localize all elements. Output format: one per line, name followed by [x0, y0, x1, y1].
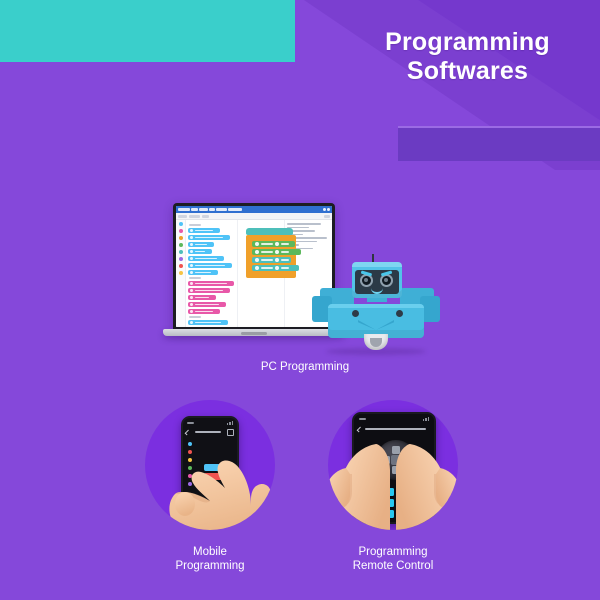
page-title: Programming Softwares	[345, 28, 590, 86]
mobile-caption-line-1: Mobile	[130, 545, 290, 559]
toolbar-button	[202, 215, 209, 218]
robot-right-port	[396, 310, 403, 317]
titlebar-menu-item	[209, 208, 215, 211]
block-label	[195, 290, 223, 292]
blue-programmable-robot	[312, 262, 440, 354]
block-label	[261, 251, 273, 253]
block-label	[195, 265, 225, 267]
remote-caption-line-1: Programming	[313, 545, 473, 559]
pc-programming-caption-text: PC Programming	[205, 360, 405, 374]
block-category-dot[interactable]	[179, 243, 183, 247]
status-signal-icon	[423, 417, 430, 421]
block-category-dot[interactable]	[179, 264, 183, 268]
laptop-screen	[176, 206, 332, 327]
remote-caption-line-2: Remote Control	[313, 559, 473, 573]
block-label	[261, 267, 273, 269]
minimize-icon	[323, 208, 326, 211]
palette-block[interactable]	[188, 249, 212, 254]
block-input-field[interactable]	[275, 258, 279, 262]
laptop-base-notch	[241, 332, 267, 335]
robot-left-port	[352, 310, 359, 317]
titlebar-project-name	[228, 208, 242, 211]
loop-container-block	[246, 235, 296, 278]
block-nub	[190, 264, 193, 267]
maximize-icon	[327, 208, 330, 211]
page-title-line-1: Programming	[345, 28, 590, 57]
palette-group-header	[189, 316, 201, 318]
palette-block[interactable]	[188, 295, 216, 300]
palette-block[interactable]	[188, 263, 232, 268]
block-category-dot[interactable]	[179, 222, 183, 226]
programming-remote-control-image	[328, 400, 458, 530]
remote-control-caption: Programming Remote Control	[313, 545, 473, 573]
block-label	[195, 258, 217, 260]
palette-group-header	[189, 277, 201, 279]
palette-block[interactable]	[188, 320, 228, 325]
titlebar-logo	[178, 208, 190, 211]
block-label	[195, 283, 227, 285]
block-label	[281, 251, 289, 253]
script-statement-block[interactable]	[252, 257, 291, 263]
block-input-field[interactable]	[255, 266, 259, 270]
palette-block[interactable]	[188, 256, 224, 261]
block-nub	[190, 250, 193, 253]
script-statement-block[interactable]	[252, 249, 301, 255]
block-nub	[190, 282, 193, 285]
block-category-dot[interactable]	[179, 236, 183, 240]
loop-body	[252, 241, 296, 271]
block-label	[195, 311, 213, 313]
block-label	[195, 297, 209, 299]
block-label	[281, 243, 289, 245]
block-category-dot[interactable]	[179, 257, 183, 261]
block-script	[246, 228, 296, 278]
palette-block[interactable]	[188, 242, 214, 247]
block-nub	[190, 296, 193, 299]
app-title	[195, 431, 221, 434]
ide-titlebar	[176, 206, 332, 213]
phone-status-bar	[187, 421, 233, 425]
block-nub	[190, 257, 193, 260]
titlebar-menu-item	[191, 208, 198, 211]
laptop-lid	[173, 203, 335, 331]
ide-body	[176, 220, 332, 327]
teal-accent-block	[0, 0, 295, 62]
block-input-field[interactable]	[275, 242, 279, 246]
block-category-dot[interactable]	[179, 250, 183, 254]
block-label	[261, 243, 273, 245]
page-title-line-2: Softwares	[345, 57, 590, 86]
palette-block[interactable]	[188, 302, 226, 307]
block-label	[195, 272, 211, 274]
block-label	[195, 251, 205, 253]
script-canvas	[238, 220, 284, 327]
back-arrow-icon[interactable]	[357, 426, 363, 432]
block-nub	[190, 321, 193, 324]
shadow-block	[398, 128, 600, 161]
block-input-field[interactable]	[275, 250, 279, 254]
app-top-bar	[186, 428, 234, 436]
block-label	[195, 322, 221, 324]
block-input-field[interactable]	[255, 250, 259, 254]
hat-block	[246, 228, 293, 235]
poster-canvas: Programming Softwares	[0, 0, 600, 600]
block-label	[281, 259, 289, 261]
block-label	[195, 237, 223, 239]
robot-right-sensor-eye	[380, 274, 393, 287]
mobile-programming-image	[145, 400, 275, 530]
robot-smile	[371, 287, 383, 294]
right-hand-holding-phone	[396, 444, 458, 530]
block-nub	[190, 229, 193, 232]
block-input-field[interactable]	[255, 258, 259, 262]
back-arrow-icon[interactable]	[185, 429, 191, 435]
robot-face-panel	[355, 270, 399, 294]
status-signal-icon	[227, 421, 234, 425]
palette-block[interactable]	[188, 309, 220, 314]
app-title	[365, 428, 426, 431]
phone-status-bar	[359, 417, 429, 421]
block-input-field[interactable]	[275, 266, 279, 270]
code-line	[287, 223, 321, 225]
block-label	[195, 230, 213, 232]
palette-block[interactable]	[188, 228, 220, 233]
mobile-programming-caption: Mobile Programming	[130, 545, 290, 573]
script-statement-block[interactable]	[252, 241, 295, 247]
script-statement-block[interactable]	[252, 265, 299, 271]
block-nub	[190, 243, 193, 246]
titlebar-menu-item	[216, 208, 227, 211]
app-top-bar	[358, 425, 430, 433]
hand-holding-phone	[167, 454, 271, 530]
palette-group-header	[189, 224, 201, 226]
menu-icon[interactable]	[227, 429, 234, 436]
palette-block[interactable]	[188, 288, 230, 293]
block-nub	[190, 271, 193, 274]
block-input-field[interactable]	[255, 242, 259, 246]
block-category-rail	[176, 220, 186, 327]
block-nub	[190, 289, 193, 292]
toolbar-button	[178, 215, 187, 218]
left-hand-holding-phone	[328, 444, 390, 530]
block-label	[281, 267, 289, 269]
block-nub	[190, 303, 193, 306]
titlebar-menu-item	[199, 208, 208, 211]
palette-block[interactable]	[188, 270, 218, 275]
palette-block[interactable]	[188, 281, 234, 286]
block-nub	[190, 310, 193, 313]
block-category-dot[interactable]	[179, 229, 183, 233]
block-nub	[190, 236, 193, 239]
toolbar-button	[324, 215, 330, 218]
block-label	[261, 259, 273, 261]
pc-programming-caption: PC Programming	[205, 360, 405, 374]
block-label	[195, 244, 207, 246]
toolbar-button	[189, 215, 200, 218]
status-time	[359, 418, 366, 420]
palette-block[interactable]	[188, 235, 230, 240]
mobile-caption-line-2: Programming	[130, 559, 290, 573]
status-time	[187, 422, 194, 424]
block-category-dot[interactable]	[179, 271, 183, 275]
robot-body	[328, 304, 424, 338]
robot-body-highlight	[328, 304, 424, 308]
block-palette	[186, 220, 238, 327]
block-label	[195, 304, 219, 306]
robot-head-highlight	[352, 262, 402, 267]
ide-toolbar	[176, 213, 332, 220]
mobile-block-category-dot[interactable]	[188, 442, 192, 446]
